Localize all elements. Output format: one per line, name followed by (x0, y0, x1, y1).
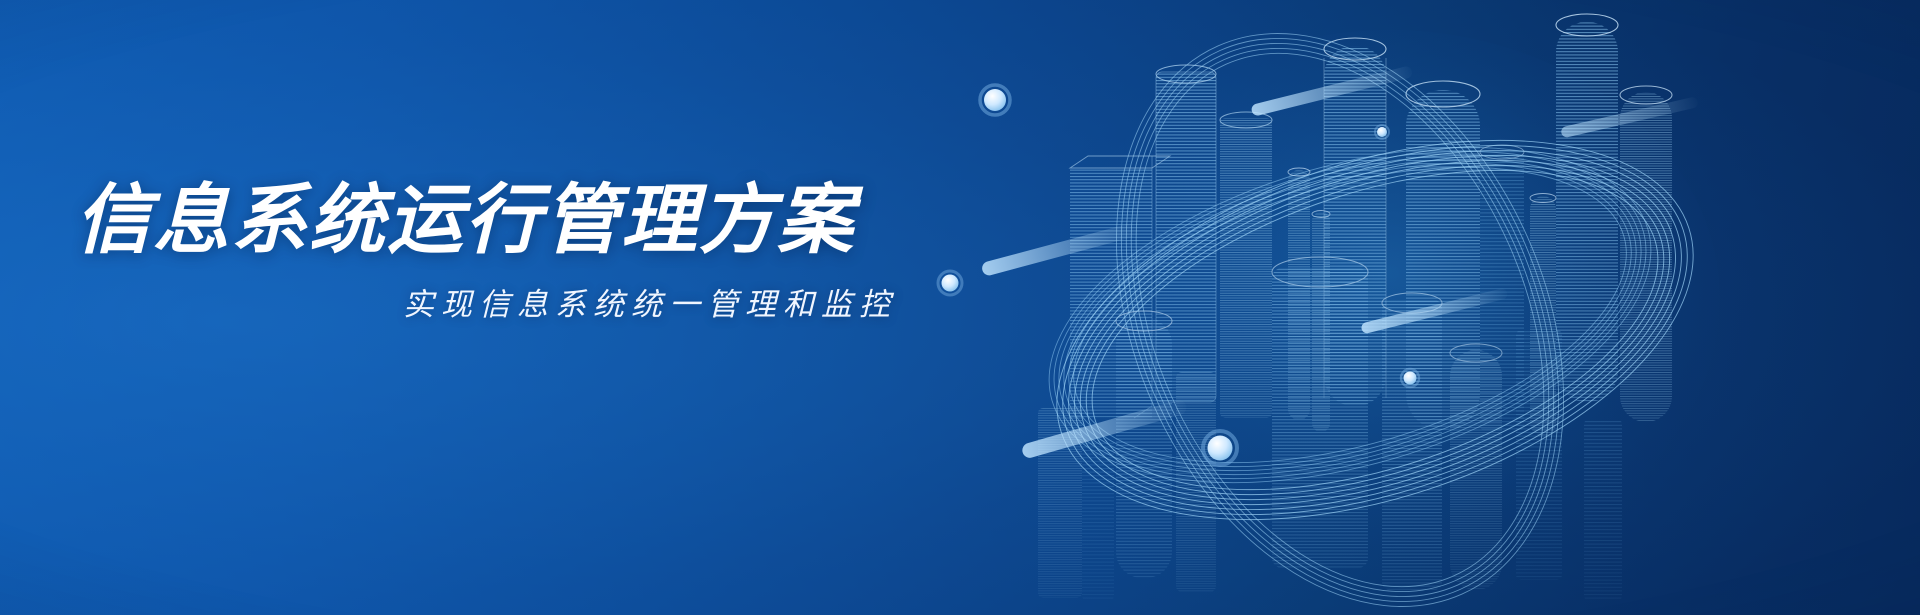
glow-dot (1401, 369, 1419, 387)
tower-pipe-2 (1312, 211, 1330, 433)
orbit-ring-steep (1031, 0, 1650, 615)
glow-dot (1375, 125, 1389, 139)
glow-dot (938, 271, 962, 295)
tower-low-2 (1082, 440, 1114, 600)
tower-back-cylinder-tall (1324, 38, 1386, 406)
light-streak (1360, 287, 1508, 334)
city-glow (1060, 30, 1720, 570)
tower-pipe-3 (1530, 194, 1556, 437)
tower-low-3 (1584, 420, 1622, 600)
wireframe-city-illustration (920, 0, 1920, 615)
tower-front-c (1382, 293, 1442, 590)
glow-dot (1203, 431, 1237, 465)
tower-front-a (1116, 311, 1172, 578)
page-title: 信息系统运行管理方案 (75, 178, 915, 263)
tower-right-tall-a (1556, 14, 1618, 402)
glow-dot (980, 85, 1010, 115)
hero-banner: 信息系统运行管理方案 实现信息系统统一管理和监控 (0, 0, 1920, 615)
light-streak (981, 222, 1139, 277)
tower-low-1 (1038, 408, 1082, 598)
tower-left-stepped (1070, 156, 1170, 418)
tower-right-tall-b (1620, 86, 1672, 422)
tower-front-d (1450, 344, 1502, 590)
orbit-ring-front (1009, 68, 1741, 592)
tower-front-b (1176, 372, 1216, 592)
banner-text-block: 信息系统运行管理方案 实现信息系统统一管理和监控 (75, 178, 915, 324)
glow-dots (938, 85, 1419, 465)
tower-back-3 (1480, 145, 1524, 430)
tower-back-1 (1156, 65, 1216, 402)
tower-front-e (1516, 330, 1562, 580)
page-subtitle: 实现信息系统统一管理和监控 (75, 279, 915, 324)
tower-back-cylinder-mid (1406, 81, 1480, 430)
light-streak (1250, 65, 1413, 117)
wireframe-towers (1038, 14, 1672, 600)
light-streak (1021, 398, 1189, 459)
orbit-ring-back (1011, 85, 1690, 544)
tower-pipe-1 (1288, 168, 1310, 420)
light-streak (1560, 96, 1699, 138)
tower-mid-wide (1272, 257, 1368, 568)
tower-back-2 (1220, 112, 1272, 418)
light-streaks (981, 65, 1700, 459)
